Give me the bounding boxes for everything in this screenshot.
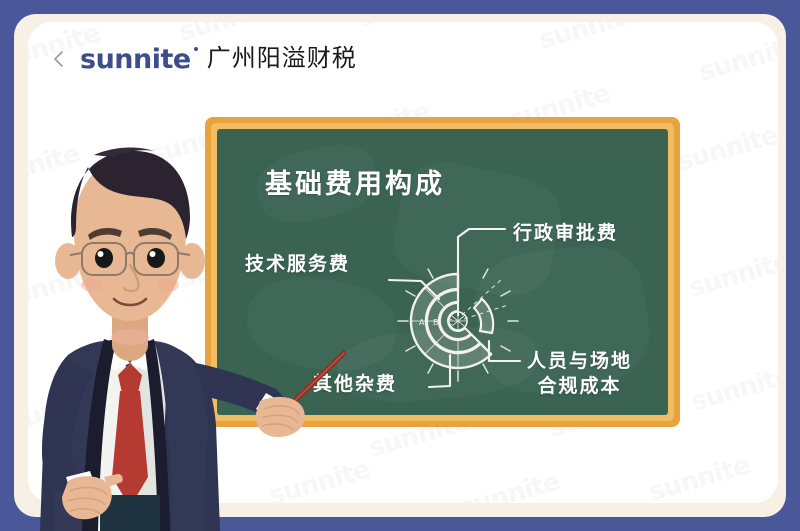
ring-letter-b: B — [433, 318, 439, 327]
back-button[interactable] — [50, 50, 68, 68]
watermark-text: sunnite — [646, 450, 753, 503]
chevron-left-icon — [52, 50, 66, 68]
ring-letter-c: C — [447, 318, 453, 327]
character-illustration — [8, 125, 248, 531]
watermark-text: sunnite — [456, 466, 563, 503]
ring-letter-a: A — [419, 318, 425, 327]
watermark-text: sunnite — [688, 360, 778, 417]
brand-logo-text: sunnite — [80, 44, 191, 75]
label-personnel-venue-line2: 合规成本 — [527, 374, 632, 399]
brand[interactable]: sunnite 广州阳溢财税 — [80, 46, 357, 73]
brand-name-cn: 广州阳溢财税 — [207, 46, 357, 70]
eye-left — [95, 248, 113, 268]
page-root: sunnite sunnite sunnite sunnite sunnite … — [0, 0, 800, 531]
cheek-left — [81, 278, 103, 292]
watermark-text: sunnite — [674, 120, 778, 177]
hand-right — [256, 397, 305, 437]
label-personnel-venue-cost: 人员与场地 合规成本 — [527, 349, 632, 399]
eye-highlight-left — [98, 251, 104, 257]
eye-highlight-right — [150, 251, 156, 257]
cheek-right — [157, 278, 179, 292]
label-personnel-venue-line1: 人员与场地 — [527, 349, 632, 374]
page-header: sunnite 广州阳溢财税 — [28, 22, 778, 96]
brand-logo: sunnite — [80, 46, 191, 73]
eye-right — [147, 248, 165, 268]
watermark-text: sunnite — [686, 246, 778, 303]
neck-shade — [111, 329, 149, 345]
label-admin-approval-fee: 行政审批费 — [513, 221, 618, 246]
radial-spiral-diagram: A B C — [395, 255, 545, 385]
brand-logo-dot — [194, 47, 198, 51]
